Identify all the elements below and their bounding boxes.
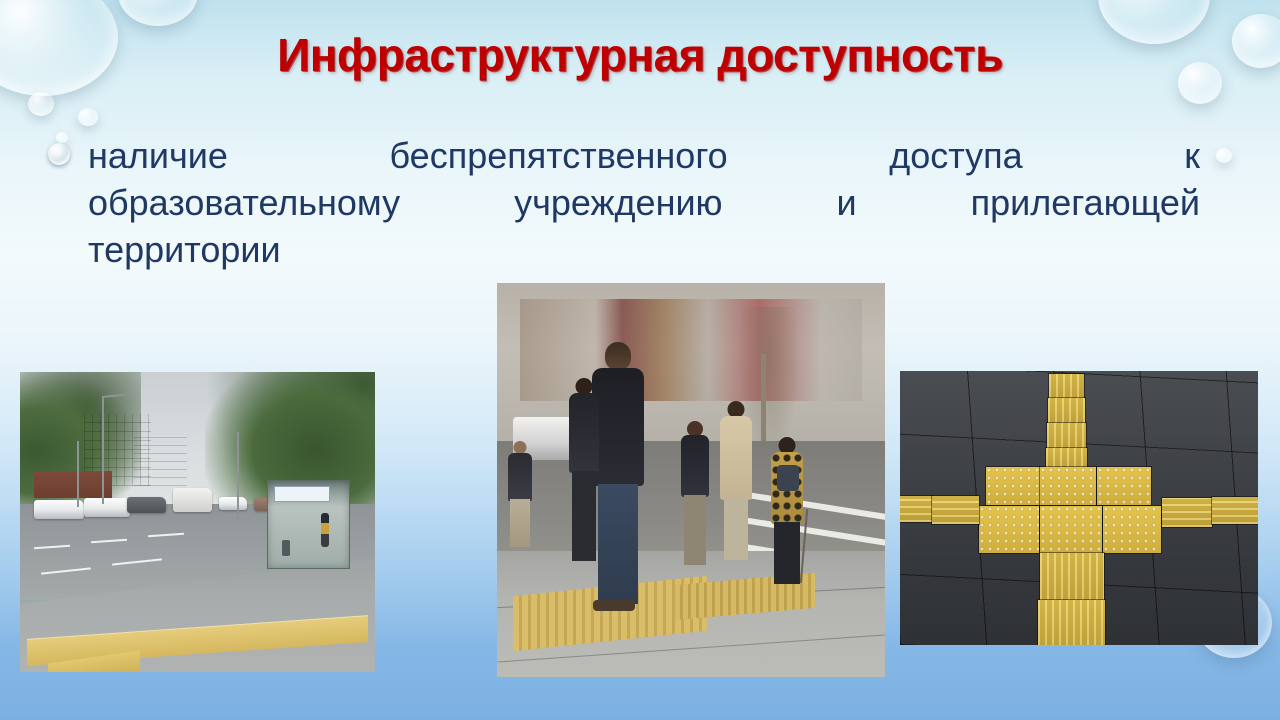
- legs: [572, 471, 596, 561]
- parked-car: [84, 498, 130, 517]
- torso: [569, 393, 599, 473]
- pedestrian: [505, 441, 535, 630]
- backpack: [777, 465, 799, 491]
- dotted-tactile-tile: [1040, 467, 1096, 505]
- parked-car: [127, 497, 166, 514]
- ribbed-tactile-tile: [1049, 374, 1085, 399]
- torso-beige-coat: [720, 416, 752, 500]
- ribbed-tactile-tile: [1040, 553, 1104, 600]
- pearl-bubble-bullet-icon: [48, 143, 70, 165]
- street-light-pole: [102, 396, 104, 504]
- waiting-person: [321, 513, 329, 547]
- head: [605, 342, 631, 370]
- apartment-building-2: [134, 435, 187, 486]
- dotted-tactile-tile: [1040, 506, 1102, 553]
- crossing-photo-content: [497, 283, 885, 677]
- dotted-tactile-tile: [986, 467, 1040, 505]
- ribbed-tactile-tile: [1162, 498, 1212, 527]
- trash-bin: [282, 540, 290, 556]
- bubble-decoration-icon: [1216, 148, 1232, 163]
- pedestrian: [679, 421, 711, 650]
- ribbed-tactile-tile: [932, 496, 979, 525]
- ribbed-tactile-tile: [1046, 448, 1086, 467]
- bubble-decoration-icon: [28, 92, 54, 116]
- street-bus-stop-photo: [20, 372, 375, 672]
- bullet-line-1: наличие беспрепятственного доступа к: [88, 132, 1200, 179]
- ribbed-tactile-tile: [1048, 398, 1085, 423]
- ribbed-tactile-tile: [1047, 423, 1086, 448]
- bullet-line-2: образовательному учреждению и прилегающе…: [88, 179, 1200, 226]
- legs: [724, 498, 748, 560]
- utility-pole: [77, 441, 79, 507]
- legs: [510, 499, 530, 547]
- brick-fence: [34, 471, 112, 498]
- torso: [508, 453, 532, 501]
- dotted-tactile-tile: [979, 506, 1039, 553]
- ribbed-tactile-tile: [1212, 497, 1258, 524]
- presentation-slide: Инфраструктурная доступность наличие бес…: [0, 0, 1280, 720]
- torso: [681, 435, 709, 497]
- bus-stop-shelter: [267, 480, 351, 569]
- sign-pole: [237, 432, 239, 522]
- street-photo-content: [20, 372, 375, 672]
- ribbed-tactile-tile: [1038, 600, 1105, 645]
- bubble-decoration-icon: [78, 108, 98, 126]
- dotted-tactile-tile: [1103, 506, 1162, 553]
- pedestrian: [567, 378, 601, 638]
- tactile-paving-photo: [900, 371, 1258, 645]
- pedestrian-beige-coat: [718, 401, 754, 653]
- bullet-item-text: наличие беспрепятственного доступа к обр…: [88, 132, 1200, 273]
- bubble-decoration-icon: [118, 0, 198, 26]
- parked-car: [219, 497, 247, 511]
- pedestrian-crossing-photo: [497, 283, 885, 677]
- slide-title: Инфраструктурная доступность: [0, 28, 1280, 82]
- dotted-tactile-tile: [1097, 467, 1151, 505]
- legs: [774, 522, 800, 584]
- ribbed-tactile-tile: [900, 496, 932, 522]
- legs: [684, 495, 706, 565]
- legs-jeans: [598, 484, 638, 604]
- bus-stop-sign: [274, 486, 330, 502]
- bullet-line-3: территории: [88, 226, 1200, 273]
- delivery-truck: [173, 488, 212, 512]
- paving-photo-content: [900, 371, 1258, 645]
- pedestrian-with-cane: [769, 437, 805, 658]
- bullet-list: наличие беспрепятственного доступа к обр…: [48, 132, 1200, 273]
